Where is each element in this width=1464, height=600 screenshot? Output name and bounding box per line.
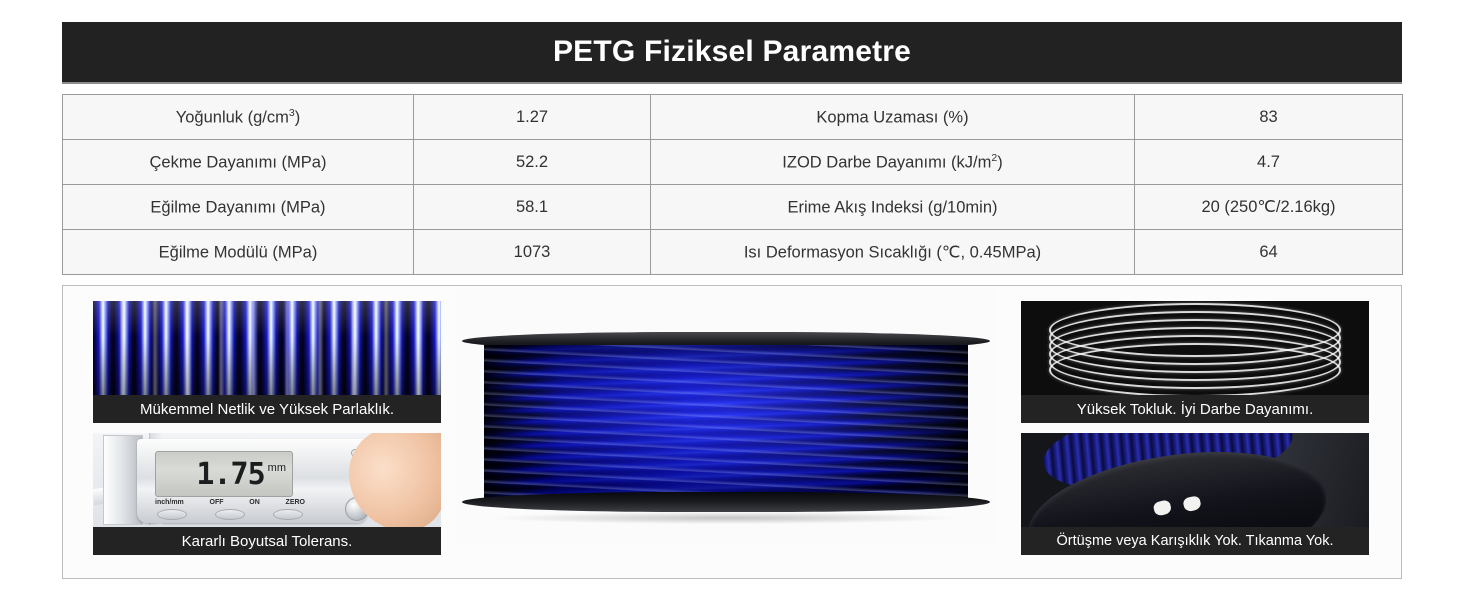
digital-caliper-photo: steel 1.75 mm inch/mm OFF ON ZERO: [93, 433, 441, 527]
spec-value-elongation: 83: [1135, 95, 1403, 140]
caliper-key-label-off: OFF: [210, 499, 224, 506]
spec-label-flexural-strength: Eğilme Dayanımı (MPa): [63, 185, 414, 230]
caliper-key-labels: inch/mm OFF ON ZERO: [155, 499, 305, 506]
caliper-reading: 1.75: [196, 457, 264, 492]
spec-label-text: Isı Deformasyon Sıcaklığı (℃, 0.45MPa): [744, 243, 1041, 261]
feature-caption-clarity: Mükemmel Netlik ve Yüksek Parlaklık.: [93, 395, 441, 423]
caliper-button-onoff: [215, 509, 245, 520]
feature-card-clarity: Mükemmel Netlik ve Yüksek Parlaklık.: [93, 301, 441, 423]
filament-coil: [1049, 343, 1341, 395]
spec-value-flexural-strength: 58.1: [414, 185, 651, 230]
table-row: Yoğunluk (g/cm3) 1.27 Kopma Uzaması (%) …: [63, 95, 1403, 140]
feature-card-tolerance: steel 1.75 mm inch/mm OFF ON ZERO: [93, 433, 441, 555]
spec-label-text: Çekme Dayanımı (MPa): [150, 153, 327, 171]
spec-label-text: Yoğunluk (g/cm: [176, 108, 289, 126]
petg-spec-infographic: PETG Fiziksel Parametre Yoğunluk (g/cm3)…: [0, 0, 1464, 600]
product-spool-card: [456, 290, 996, 544]
coiled-filament-photo: [1021, 301, 1369, 395]
spool-rim-holes-photo: [1021, 433, 1369, 527]
spec-label-heat-deflection-temp: Isı Deformasyon Sıcaklığı (℃, 0.45MPa): [651, 230, 1135, 275]
spec-label-text: IZOD Darbe Dayanımı (kJ/m: [782, 153, 991, 171]
spec-label-density: Yoğunluk (g/cm3): [63, 95, 414, 140]
table-row: Eğilme Dayanımı (MPa) 58.1 Erime Akış In…: [63, 185, 1403, 230]
spool-wound-filament: [484, 345, 968, 501]
spool-assembly: [462, 332, 990, 512]
caliper-key-label-on: ON: [249, 499, 260, 506]
feature-card-winding: Örtüşme veya Karışıklık Yok. Tıkanma Yok…: [1021, 433, 1369, 555]
spec-label-text: Eğilme Dayanımı (MPa): [150, 198, 325, 216]
header-banner: PETG Fiziksel Parametre: [62, 22, 1402, 84]
spool-flange-bottom: [462, 492, 990, 512]
spec-value-heat-deflection-temp: 64: [1135, 230, 1403, 275]
spec-value-density: 1.27: [414, 95, 651, 140]
spec-value-tensile-strength: 52.2: [414, 140, 651, 185]
spec-label-elongation: Kopma Uzaması (%): [651, 95, 1135, 140]
spec-label-flexural-modulus: Eğilme Modülü (MPa): [63, 230, 414, 275]
spec-table: Yoğunluk (g/cm3) 1.27 Kopma Uzaması (%) …: [62, 94, 1403, 275]
caliper-body: 1.75 mm inch/mm OFF ON ZERO: [137, 439, 367, 523]
spec-value-flexural-modulus: 1073: [414, 230, 651, 275]
filament-anchor-hole: [1182, 495, 1202, 513]
table-row: Eğilme Modülü (MPa) 1073 Isı Deformasyon…: [63, 230, 1403, 275]
blue-filament-spool-photo: [456, 290, 996, 544]
spec-label-text: Erime Akış Indeksi (g/10min): [788, 198, 998, 216]
page-title: PETG Fiziksel Parametre: [553, 35, 911, 69]
caliper-button-inchmm: [157, 509, 187, 520]
spec-label-tail: ): [997, 153, 1003, 171]
spec-label-melt-flow-index: Erime Akış Indeksi (g/10min): [651, 185, 1135, 230]
table-row: Çekme Dayanımı (MPa) 52.2 IZOD Darbe Day…: [63, 140, 1403, 185]
feature-caption-tolerance: Kararlı Boyutsal Tolerans.: [93, 527, 441, 555]
caliper-button-zero: [273, 509, 303, 520]
caliper-key-label-zero: ZERO: [286, 499, 305, 506]
gallery-panel: Mükemmel Netlik ve Yüksek Parlaklık. ste…: [62, 285, 1402, 579]
spec-value-izod-impact: 4.7: [1135, 140, 1403, 185]
spec-label-text: Eğilme Modülü (MPa): [159, 243, 318, 261]
spec-label-text: Kopma Uzaması (%): [816, 108, 968, 126]
feature-card-toughness: Yüksek Tokluk. İyi Darbe Dayanımı.: [1021, 301, 1369, 423]
caliper-unit: mm: [268, 462, 286, 474]
caliper-lcd-display: 1.75 mm: [155, 451, 293, 497]
blue-filament-strands-photo: [93, 301, 441, 395]
spec-label-tail: ): [295, 108, 301, 126]
spec-label-tensile-strength: Çekme Dayanımı (MPa): [63, 140, 414, 185]
spec-value-melt-flow-index: 20 (250℃/2.16kg): [1135, 185, 1403, 230]
spec-label-izod-impact: IZOD Darbe Dayanımı (kJ/m2): [651, 140, 1135, 185]
feature-caption-winding: Örtüşme veya Karışıklık Yok. Tıkanma Yok…: [1021, 527, 1369, 555]
caliper-key-label-inchmm: inch/mm: [155, 499, 184, 506]
spool-shadow: [496, 512, 956, 524]
caliper-buttons: [157, 509, 303, 520]
feature-caption-toughness: Yüksek Tokluk. İyi Darbe Dayanımı.: [1021, 395, 1369, 423]
filament-anchor-hole: [1152, 499, 1172, 517]
